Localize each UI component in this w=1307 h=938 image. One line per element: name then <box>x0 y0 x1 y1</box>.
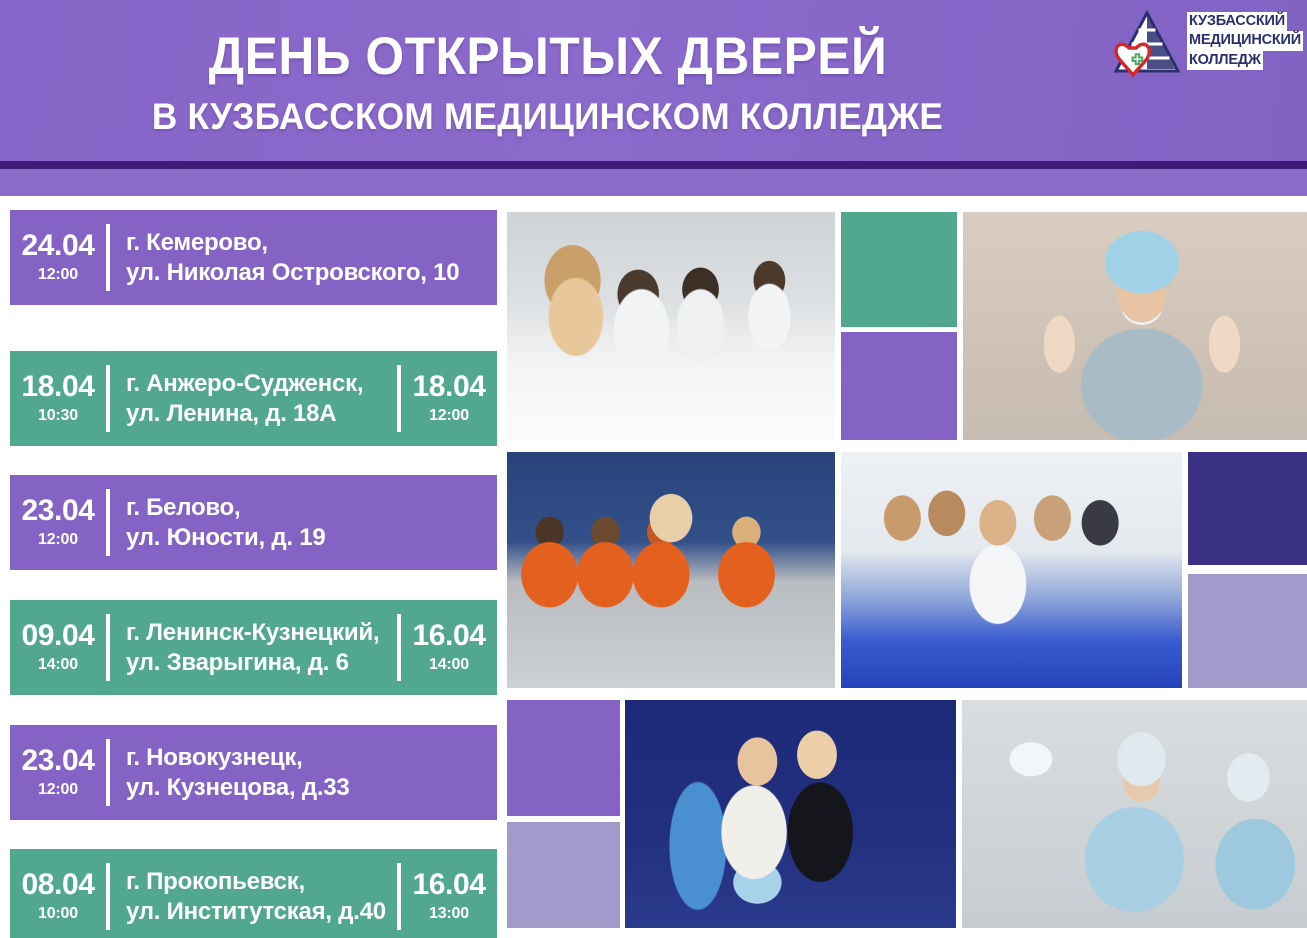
photo-interactive-table-image <box>841 452 1182 688</box>
block-purple-bottom <box>507 700 620 816</box>
photo-pharmacy-lab-image <box>507 212 835 440</box>
block-lavender-mid <box>1188 574 1307 688</box>
photo-dental-volunteers <box>507 452 835 688</box>
photo-dental-volunteers-image <box>507 452 835 688</box>
block-lavender-bottom <box>507 822 620 928</box>
poster-root: ДЕНЬ ОТКРЫТЫХ ДВЕРЕЙ В КУЗБАССКОМ МЕДИЦИ… <box>0 0 1307 938</box>
photo-sterile-lab-image <box>962 700 1307 928</box>
block-teal-top <box>841 212 957 327</box>
photo-collage <box>0 0 1307 938</box>
photo-surgery-gloves <box>963 212 1307 440</box>
photo-sterile-lab <box>962 700 1307 928</box>
photo-baby-manikin-image <box>625 700 956 928</box>
block-indigo-mid <box>1188 452 1307 565</box>
photo-baby-manikin <box>625 700 956 928</box>
photo-surgery-gloves-image <box>963 212 1307 440</box>
photo-pharmacy-lab <box>507 212 835 440</box>
photo-interactive-table <box>841 452 1182 688</box>
block-purple-top <box>841 332 957 440</box>
